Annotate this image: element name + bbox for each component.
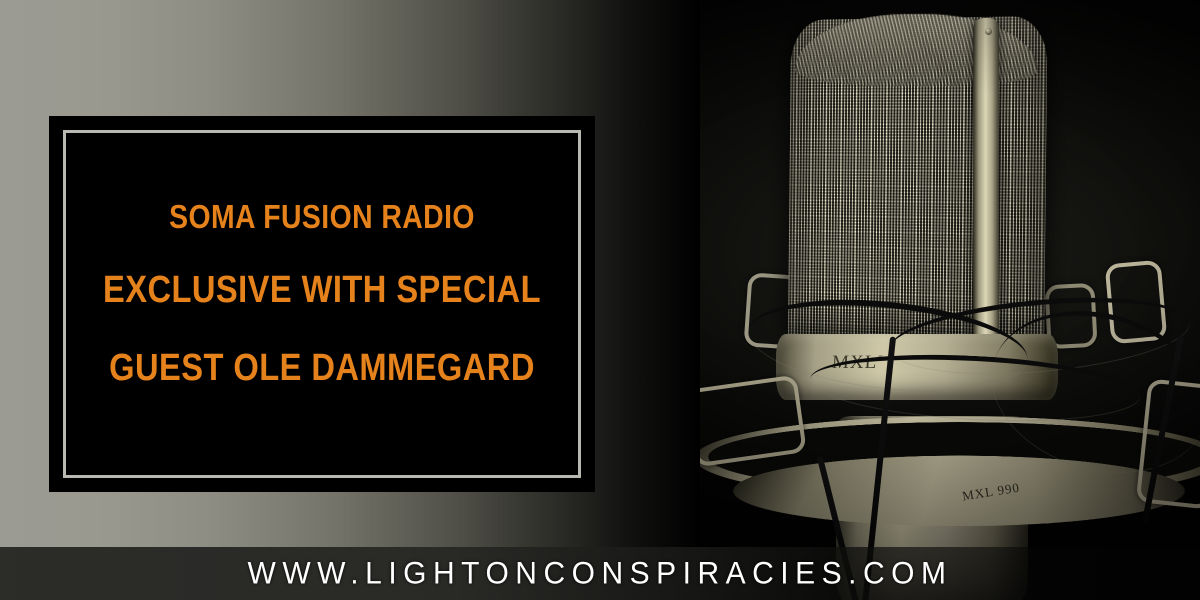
footer-banner: WWW.LIGHTONCONSPIRACIES.COM	[0, 547, 1200, 600]
promo-card: SOMA FUSION RADIO EXCLUSIVE WITH SPECIAL…	[49, 116, 595, 492]
promo-card-text: SOMA FUSION RADIO EXCLUSIVE WITH SPECIAL…	[49, 200, 595, 387]
headline-line-1: SOMA FUSION RADIO	[87, 200, 557, 233]
website-url: WWW.LIGHTONCONSPIRACIES.COM	[248, 555, 953, 591]
headline-line-2: EXCLUSIVE WITH SPECIAL	[87, 271, 557, 309]
microphone-assembly: MXL® MXL 990	[690, 0, 1200, 600]
microphone-seam-band	[973, 18, 999, 349]
microphone-seam-screw	[985, 28, 992, 35]
headline-line-3: GUEST OLE DAMMEGARD	[87, 349, 557, 387]
promo-banner: MXL® MXL 990 SOMA FUSION RADIO EXCLUSIVE…	[0, 0, 1200, 600]
shock-mount-hoop-left	[685, 375, 807, 468]
